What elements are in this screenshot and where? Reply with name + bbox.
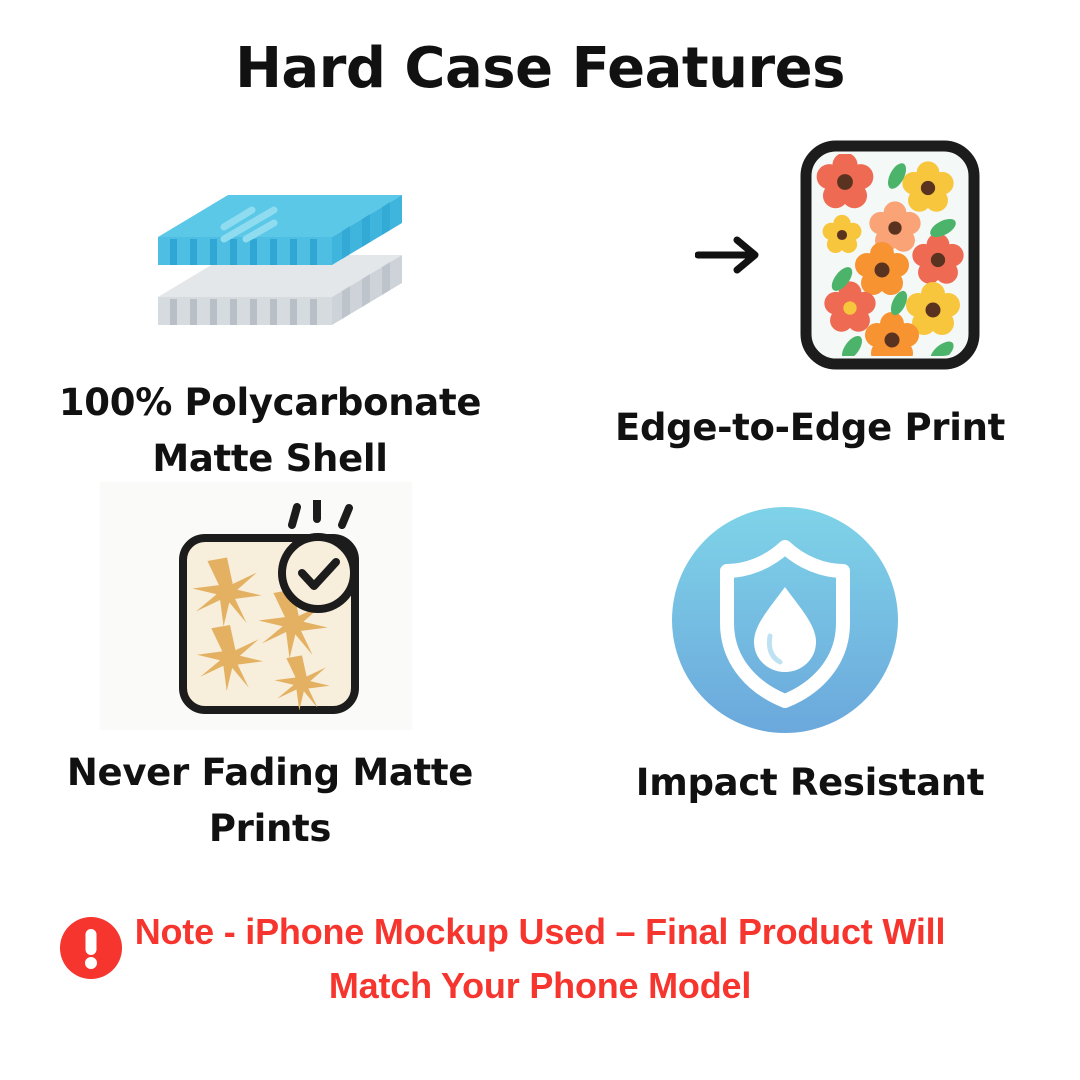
sparkle-card-check-icon [145,500,395,730]
feature-label: Impact Resistant [560,755,1060,811]
feature-edge-to-edge-print: Edge-to-Edge Print [560,140,1060,460]
feature-label: 100% Polycarbonate Matte Shell [20,375,520,486]
feature-label: Edge-to-Edge Print [560,400,1060,456]
feature-label: Never Fading Matte Prints [20,745,520,856]
phone-floral-print-icon [800,140,980,370]
shield-droplet-icon [670,505,900,735]
page-title: Hard Case Features [0,36,1080,101]
note-text: Note - iPhone Mockup Used – Final Produc… [100,905,980,1013]
note-banner: Note - iPhone Mockup Used – Final Produc… [0,905,1080,1013]
layered-slabs-icon [150,165,410,355]
feature-never-fading-prints: Never Fading Matte Prints [20,480,520,855]
exclamation-circle-icon [60,917,122,979]
feature-polycarbonate-shell: 100% Polycarbonate Matte Shell [20,165,520,485]
feature-impact-resistant: Impact Resistant [560,505,1060,835]
infographic-page: Hard Case Features [0,0,1080,1080]
arrow-right-icon [695,235,765,275]
